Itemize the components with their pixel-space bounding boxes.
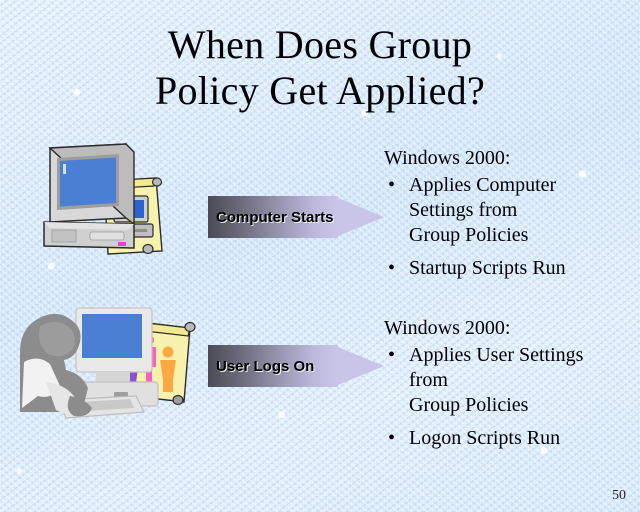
bullet-line-1: Applies Computer (409, 173, 634, 198)
slide-canvas: When Does Group Policy Get Applied? (0, 0, 640, 512)
list-item: • Startup Scripts Run (384, 256, 634, 281)
bullet-list: • Applies Computer Settings from Group P… (384, 173, 634, 281)
computer-starts-arrow[interactable]: Computer Starts (208, 188, 383, 246)
user-logon-text-block: Windows 2000: • Applies User Settings fr… (384, 316, 638, 453)
bullet-list: • Applies User Settings from Group Polic… (384, 343, 638, 451)
desktop-computer-illustration (30, 136, 190, 262)
arrow-head (338, 337, 384, 395)
bullet-dot: • (388, 256, 395, 281)
title-line-2: Policy Get Applied? (0, 68, 640, 114)
bullet-line-1: Startup Scripts Run (409, 256, 634, 281)
bullet-dot: • (388, 426, 395, 451)
computer-base (44, 222, 134, 248)
list-item: • Logon Scripts Run (384, 426, 638, 451)
block-heading: Windows 2000: (384, 146, 634, 171)
user-logs-on-arrow[interactable]: User Logs On (208, 337, 383, 395)
page-number: 50 (612, 488, 626, 504)
arrow-label: Computer Starts (216, 196, 334, 238)
bullet-line-1: Logon Scripts Run (409, 426, 638, 451)
block-heading: Windows 2000: (384, 316, 638, 341)
computer-startup-text-block: Windows 2000: • Applies Computer Setting… (384, 146, 634, 283)
bullet-dot: • (388, 343, 395, 368)
bullet-line-3: Group Policies (409, 223, 634, 248)
bullet-line-2: Settings from (409, 198, 634, 223)
list-item: • Applies User Settings from Group Polic… (384, 343, 638, 418)
bullet-line-1: Applies User Settings (409, 343, 638, 368)
title-line-1: When Does Group (0, 22, 640, 68)
page-title: When Does Group Policy Get Applied? (0, 22, 640, 114)
user-at-computer-illustration (18, 300, 204, 450)
arrow-head (338, 188, 384, 246)
bullet-line-2: from (409, 368, 638, 393)
arrow-label: User Logs On (216, 345, 314, 387)
list-item: • Applies Computer Settings from Group P… (384, 173, 634, 248)
bullet-dot: • (388, 173, 395, 198)
monitor-icon (50, 144, 134, 224)
bullet-line-3: Group Policies (409, 393, 638, 418)
